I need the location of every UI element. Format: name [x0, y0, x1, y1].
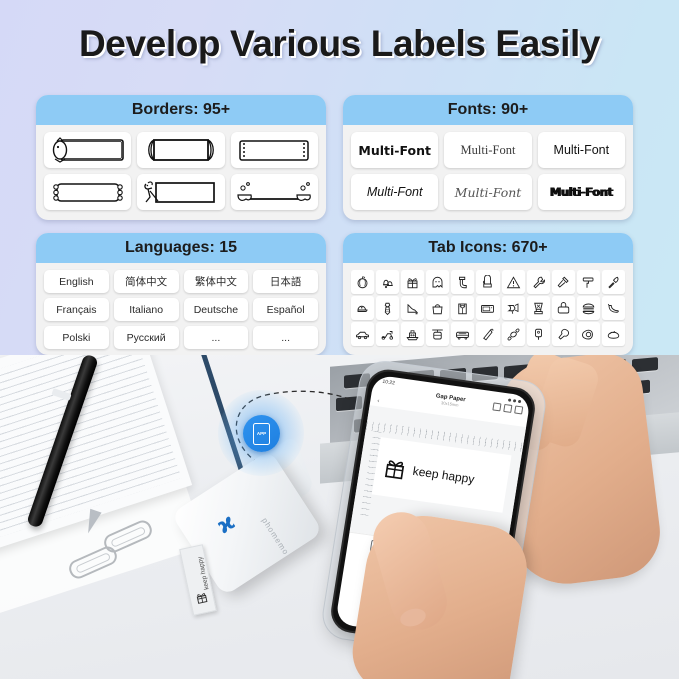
- gift-icon: [193, 589, 210, 606]
- border-thumb-bubble-bath-frame[interactable]: [231, 174, 318, 210]
- panel-fonts-heading: Fonts: 90+: [343, 95, 633, 125]
- popsicle-icon[interactable]: [527, 322, 550, 346]
- language-chip-german[interactable]: Deutsche: [184, 298, 249, 321]
- language-chip-more-1[interactable]: ...: [184, 326, 249, 349]
- font-sample-regular-sans[interactable]: Multi-Font: [538, 132, 625, 168]
- font-sample-bold-sans[interactable]: Multi-Font: [351, 132, 438, 168]
- gift-icon: [380, 454, 410, 483]
- wifi-icon: [513, 399, 516, 402]
- language-chip-french[interactable]: Français: [44, 298, 109, 321]
- language-chip-more-2[interactable]: ...: [253, 326, 318, 349]
- borders-grid: [44, 132, 318, 210]
- border-thumb-dotted-corner-frame[interactable]: [231, 132, 318, 168]
- tab-icons-row-1: [351, 270, 625, 294]
- language-chip-polish[interactable]: Polski: [44, 326, 109, 349]
- stocking-icon[interactable]: [451, 270, 474, 294]
- toaster-icon[interactable]: [552, 296, 575, 320]
- pumpkin-icon[interactable]: [351, 270, 374, 294]
- mitten-icon[interactable]: [476, 270, 499, 294]
- settings-icon[interactable]: [514, 405, 523, 414]
- hair-dryer-icon[interactable]: [502, 296, 525, 320]
- drumstick-icon[interactable]: [552, 322, 575, 346]
- gift-icon[interactable]: [401, 270, 424, 294]
- app-badge-label: APP: [257, 431, 266, 436]
- languages-grid: English 简体中文 繁体中文 日本語 Français Italiano …: [44, 270, 318, 349]
- phone-icon: APP: [253, 423, 270, 445]
- wrench-icon[interactable]: [527, 270, 550, 294]
- hammer-icon[interactable]: [552, 270, 575, 294]
- panel-fonts: Fonts: 90+ Multi-Font Multi-Font Multi-F…: [343, 95, 633, 220]
- ghost-icon[interactable]: [426, 270, 449, 294]
- warning-icon[interactable]: [502, 270, 525, 294]
- language-chip-russian[interactable]: Русский: [114, 326, 179, 349]
- scooter-icon[interactable]: [376, 322, 399, 346]
- blender-icon[interactable]: [527, 296, 550, 320]
- fonts-grid: Multi-Font Multi-Font Multi-Font Multi-F…: [351, 132, 625, 210]
- panel-tab-icons-heading: Tab Icons: 670+: [343, 233, 633, 263]
- label-preview[interactable]: keep happy: [372, 437, 512, 513]
- app-badge: APP: [243, 415, 280, 452]
- font-sample-italic-sans[interactable]: Multi-Font: [351, 174, 438, 210]
- bells-icon[interactable]: [376, 270, 399, 294]
- redo-icon[interactable]: [503, 404, 512, 413]
- handbag-icon[interactable]: [426, 296, 449, 320]
- overalls-icon[interactable]: [451, 296, 474, 320]
- cap-icon[interactable]: [351, 296, 374, 320]
- cable-car-icon[interactable]: [426, 322, 449, 346]
- panel-languages-heading: Languages: 15: [36, 233, 326, 263]
- border-thumb-dog-frame[interactable]: [137, 174, 224, 210]
- language-chip-english[interactable]: English: [44, 270, 109, 293]
- bus-icon[interactable]: [451, 322, 474, 346]
- font-sample-heavy-slab[interactable]: Multi-Font: [538, 174, 625, 210]
- label-printer: ϰ phomemo keep happy: [180, 460, 318, 590]
- paint-roller-icon[interactable]: [577, 270, 600, 294]
- language-chip-italian[interactable]: Italiano: [114, 298, 179, 321]
- signal-icon: [508, 398, 511, 401]
- high-heel-icon[interactable]: [401, 296, 424, 320]
- ship-icon[interactable]: [401, 322, 424, 346]
- smartphone-in-hands: 10:22 Gap Paper 30x15mm: [330, 373, 560, 679]
- font-sample-serif[interactable]: Multi-Font: [444, 132, 531, 168]
- candy-icon[interactable]: [502, 322, 525, 346]
- border-thumb-candy-wrapper-frame[interactable]: [137, 132, 224, 168]
- undo-icon[interactable]: [492, 402, 501, 411]
- battery-icon: [518, 399, 521, 402]
- border-thumb-ornate-clasp-frame[interactable]: [44, 174, 131, 210]
- border-thumb-bird-frame[interactable]: [44, 132, 131, 168]
- tab-icons-row-2: [351, 296, 625, 320]
- language-chip-simplified-chinese[interactable]: 简体中文: [114, 270, 179, 293]
- language-chip-traditional-chinese[interactable]: 繁体中文: [184, 270, 249, 293]
- necktie-icon[interactable]: [376, 296, 399, 320]
- fried-egg-icon[interactable]: [577, 322, 600, 346]
- bread-icon[interactable]: [602, 322, 625, 346]
- font-sample-italic-serif[interactable]: Multi-Font: [444, 174, 531, 210]
- banana-icon[interactable]: [602, 296, 625, 320]
- promo-page: Develop Various Labels Easily Borders: 9…: [0, 0, 679, 679]
- panel-borders: Borders: 95+: [36, 95, 326, 220]
- language-chip-japanese[interactable]: 日本語: [253, 270, 318, 293]
- microwave-icon[interactable]: [476, 296, 499, 320]
- car-icon[interactable]: [351, 322, 374, 346]
- language-chip-spanish[interactable]: Español: [253, 298, 318, 321]
- product-photo: ϰ phomemo keep happy APP: [0, 355, 679, 679]
- burger-icon[interactable]: [577, 296, 600, 320]
- tab-icons-row-3: [351, 322, 625, 346]
- paint-brush-icon[interactable]: [602, 270, 625, 294]
- panel-languages: Languages: 15 English 简体中文 繁体中文 日本語 Fran…: [36, 233, 326, 355]
- panel-borders-heading: Borders: 95+: [36, 95, 326, 125]
- label-text: keep happy: [412, 464, 476, 486]
- panel-tab-icons: Tab Icons: 670+: [343, 233, 633, 355]
- page-title: Develop Various Labels Easily: [0, 23, 679, 65]
- carrot-icon[interactable]: [476, 322, 499, 346]
